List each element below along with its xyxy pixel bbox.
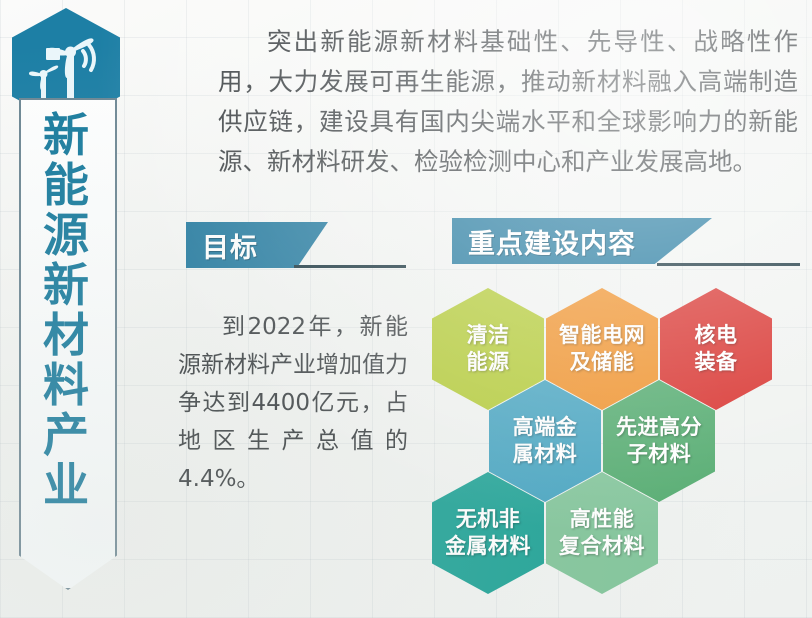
title-char: 料 [43, 360, 89, 410]
title-char: 能 [43, 160, 89, 210]
goal-banner-label: 目标 [202, 226, 258, 265]
title-char: 业 [43, 460, 89, 510]
goal-banner-shape: 目标 [186, 222, 328, 268]
title-char: 新 [43, 110, 89, 160]
hex-label-line: 及储能 [570, 349, 635, 376]
hex-label-line: 金属材料 [445, 533, 531, 560]
hex-label-line: 子材料 [627, 441, 692, 468]
hex-label-line: 先进高分 [616, 414, 702, 441]
hex-label-line: 能源 [467, 349, 510, 376]
title-char: 产 [43, 410, 89, 460]
title-char: 源 [43, 210, 89, 260]
vertical-title: 新 能 源 新 材 料 产 业 [19, 104, 113, 574]
key-construction-banner-rule [657, 263, 800, 266]
sidebar-title-column: 新 能 源 新 材 料 产 业 [0, 0, 176, 618]
hex-label-line: 高性能 [570, 506, 635, 533]
hex-label-line: 智能电网 [559, 322, 645, 349]
key-construction-banner-shape: 重点建设内容 [452, 218, 712, 264]
hex-label-line: 复合材料 [559, 533, 645, 560]
key-construction-banner-label: 重点建设内容 [468, 222, 636, 261]
hex-label-line: 核电 [695, 322, 738, 349]
title-char: 材 [43, 310, 89, 360]
hex-label-line: 清洁 [467, 322, 510, 349]
hex-label-line: 高端金 [513, 414, 578, 441]
hex-label-line: 属材料 [513, 441, 578, 468]
title-char: 新 [43, 260, 89, 310]
intro-paragraph: 突出新能源新材料基础性、先导性、战略性作用，大力发展可再生能源，推动新材料融入高… [218, 22, 798, 182]
hex-label-line: 无机非 [456, 506, 521, 533]
goal-section-banner: 目标 [186, 222, 406, 268]
key-construction-banner: 重点建设内容 [452, 218, 800, 264]
infographic-poster: 新 能 源 新 材 料 产 业 突出新能源新材料基础性、先导性、战略性作用，大力… [0, 0, 812, 618]
goal-banner-rule [294, 265, 406, 268]
goal-text: 到2022年，新能源新材料产业增加值力争达到4400亿元，占地区生产总值的4.4… [178, 308, 408, 498]
hex-label-line: 装备 [695, 349, 738, 376]
